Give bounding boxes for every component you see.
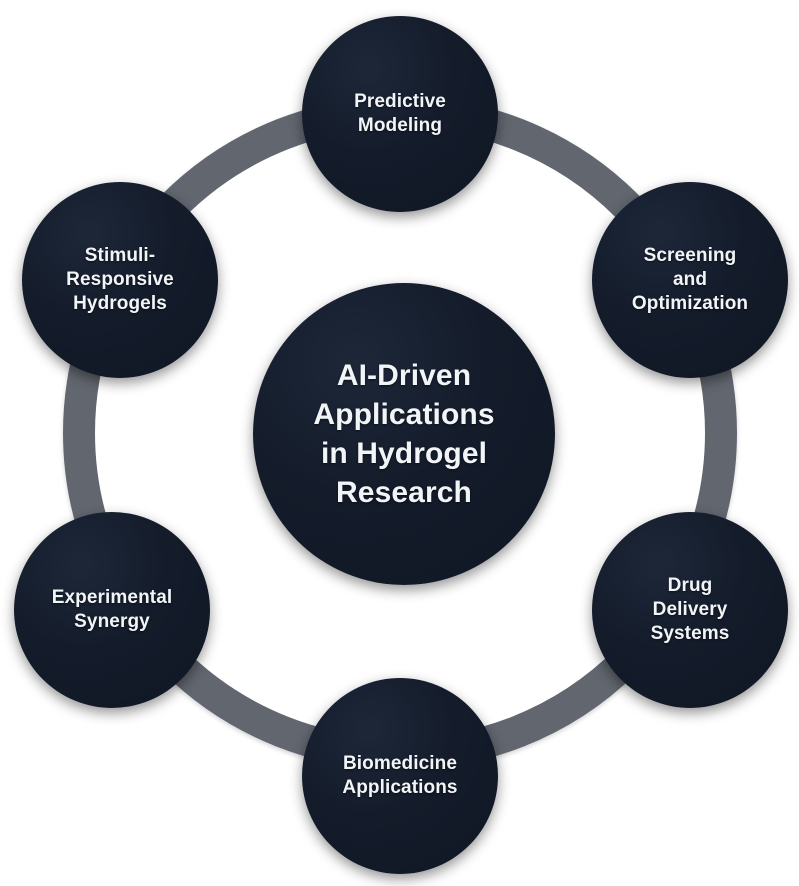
node-screening-optimization[interactable]: Screening and Optimization <box>592 182 788 378</box>
node-stimuli-responsive-hydrogels[interactable]: Stimuli- Responsive Hydrogels <box>22 182 218 378</box>
node-stimuli-responsive-hydrogels-label: Stimuli- Responsive Hydrogels <box>60 244 180 316</box>
node-center-hub[interactable]: AI-Driven Applications in Hydrogel Resea… <box>253 283 555 585</box>
node-center-hub-label: AI-Driven Applications in Hydrogel Resea… <box>307 356 500 512</box>
node-biomedicine-applications-label: Biomedicine Applications <box>336 752 463 800</box>
node-biomedicine-applications[interactable]: Biomedicine Applications <box>302 678 498 874</box>
node-experimental-synergy[interactable]: Experimental Synergy <box>14 512 210 708</box>
node-predictive-modeling-label: Predictive Modeling <box>348 90 452 138</box>
diagram-canvas: Predictive Modeling Screening and Optimi… <box>0 0 799 886</box>
node-predictive-modeling[interactable]: Predictive Modeling <box>302 16 498 212</box>
node-experimental-synergy-label: Experimental Synergy <box>46 586 179 634</box>
node-drug-delivery-systems[interactable]: Drug Delivery Systems <box>592 512 788 708</box>
node-screening-optimization-label: Screening and Optimization <box>626 244 754 316</box>
node-drug-delivery-systems-label: Drug Delivery Systems <box>645 574 736 646</box>
